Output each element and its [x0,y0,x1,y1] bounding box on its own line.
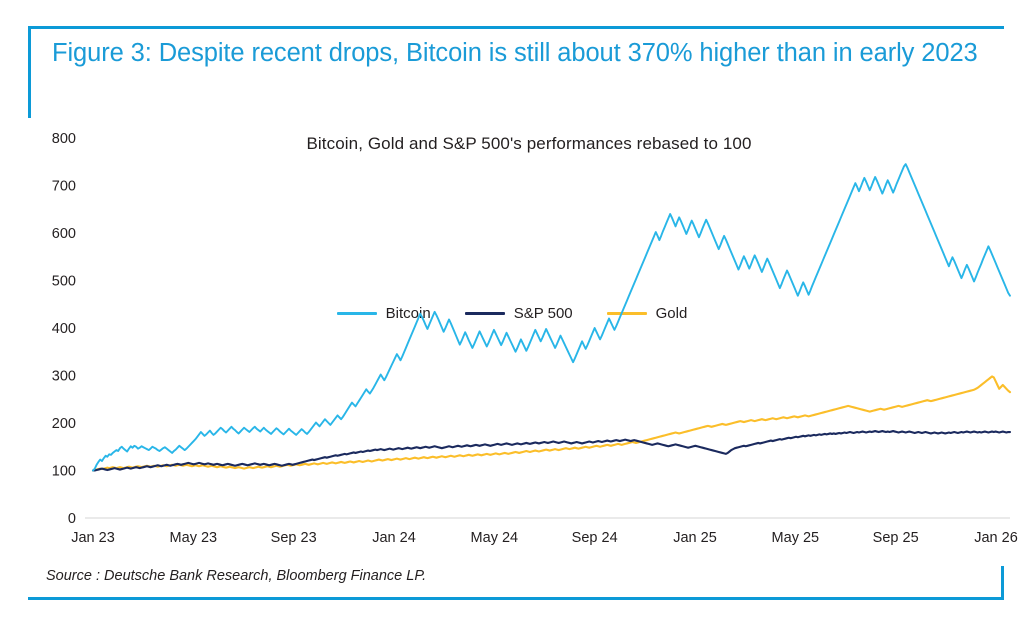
x-tick-label: May 23 [170,530,218,546]
x-tick-label: Sep 23 [271,530,317,546]
x-tick-label: Jan 24 [372,530,416,546]
chart-svg: 0100200300400500600700800 Jan 23May 23Se… [0,120,1024,550]
y-tick-label: 200 [52,416,76,432]
x-tick-label: Jan 23 [71,530,115,546]
plot-area: 0100200300400500600700800 Jan 23May 23Se… [0,120,1024,550]
y-tick-label: 800 [52,131,76,147]
frame-rule-bottom [28,597,1004,600]
y-tick-label: 300 [52,369,76,385]
x-axis: Jan 23May 23Sep 23Jan 24May 24Sep 24Jan … [71,530,1018,546]
frame-rule-top [28,26,1004,29]
frame-rule-right [1001,566,1004,600]
series-lines [93,164,1010,470]
y-tick-label: 0 [68,511,76,527]
y-tick-label: 700 [52,179,76,195]
chart-container: Bitcoin, Gold and S&P 500's performances… [0,120,1024,550]
x-tick-label: May 24 [471,530,519,546]
frame-rule-left [28,26,31,118]
y-tick-label: 100 [52,464,76,480]
x-tick-label: Jan 26 [974,530,1018,546]
y-tick-label: 500 [52,274,76,290]
figure-title: Figure 3: Despite recent drops, Bitcoin … [52,36,982,70]
source-note: Source : Deutsche Bank Research, Bloombe… [46,568,426,584]
x-tick-label: Sep 25 [873,530,919,546]
x-tick-label: May 25 [772,530,820,546]
figure-frame: Figure 3: Despite recent drops, Bitcoin … [0,0,1024,629]
y-axis: 0100200300400500600700800 [52,131,1010,527]
series-line-gold [93,376,1010,470]
x-tick-label: Sep 24 [572,530,618,546]
y-tick-label: 400 [52,321,76,337]
x-tick-label: Jan 25 [673,530,717,546]
series-line-bitcoin [93,164,1010,470]
y-tick-label: 600 [52,226,76,242]
